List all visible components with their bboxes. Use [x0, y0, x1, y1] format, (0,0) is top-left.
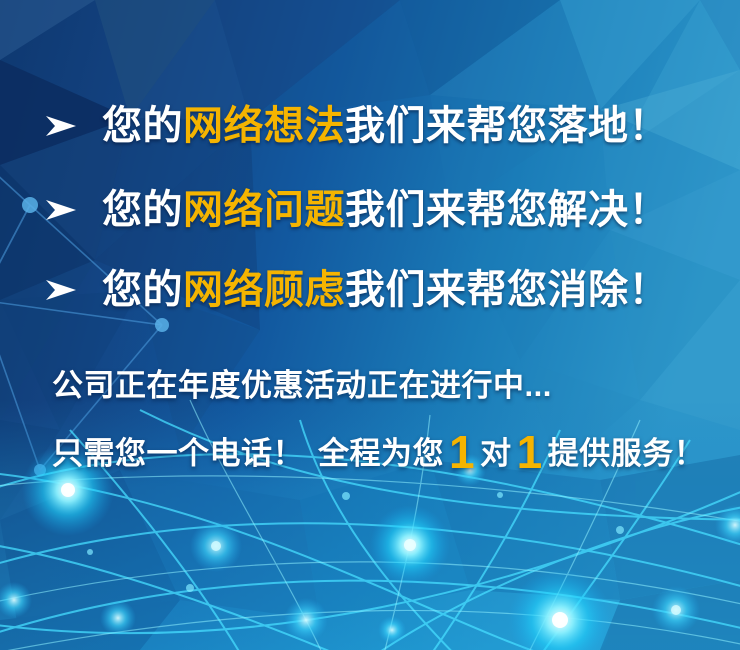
promo-banner: 您的网络想法我们来帮您落地！ 您的网络问题我们来帮您解决！ 您的网络顾虑我们来帮… — [0, 0, 740, 650]
headline-prefix: 您的 — [102, 104, 183, 148]
headline-suffix: 我们来帮您解决！ — [345, 188, 669, 232]
headline-prefix: 您的 — [102, 188, 183, 232]
service-part-1: 只需您一个电话！ — [52, 436, 304, 471]
bullet-row: 您的网络顾虑我们来帮您消除！ — [40, 268, 669, 312]
service-mid: 对 — [480, 436, 512, 471]
promo-line: 公司正在年度优惠活动正在进行中... — [52, 360, 552, 405]
service-part-3: 提供服务！ — [548, 436, 706, 471]
service-number-first: 1 — [444, 426, 480, 478]
service-number-second: 1 — [512, 426, 548, 478]
arrow-right-icon — [40, 190, 80, 230]
headline-text: 您的网络顾虑我们来帮您消除！ — [102, 268, 669, 312]
headline-suffix: 我们来帮您落地！ — [345, 104, 669, 148]
arrow-right-icon — [40, 270, 80, 310]
arrow-right-icon — [40, 106, 80, 146]
bullet-row: 您的网络想法我们来帮您落地！ — [40, 104, 669, 148]
headline-highlight: 网络想法 — [183, 104, 345, 148]
service-part-2: 全程为您 — [318, 436, 444, 471]
bullet-row: 您的网络问题我们来帮您解决！ — [40, 188, 669, 232]
headline-text: 您的网络想法我们来帮您落地！ — [102, 104, 669, 148]
headline-text: 您的网络问题我们来帮您解决！ — [102, 188, 669, 232]
headline-highlight: 网络问题 — [183, 188, 345, 232]
headline-prefix: 您的 — [102, 268, 183, 312]
banner-content: 您的网络想法我们来帮您落地！ 您的网络问题我们来帮您解决！ 您的网络顾虑我们来帮… — [0, 0, 740, 650]
service-line: 只需您一个电话！全程为您1对1提供服务！ — [52, 428, 705, 473]
headline-suffix: 我们来帮您消除！ — [345, 268, 669, 312]
headline-highlight: 网络顾虑 — [183, 268, 345, 312]
